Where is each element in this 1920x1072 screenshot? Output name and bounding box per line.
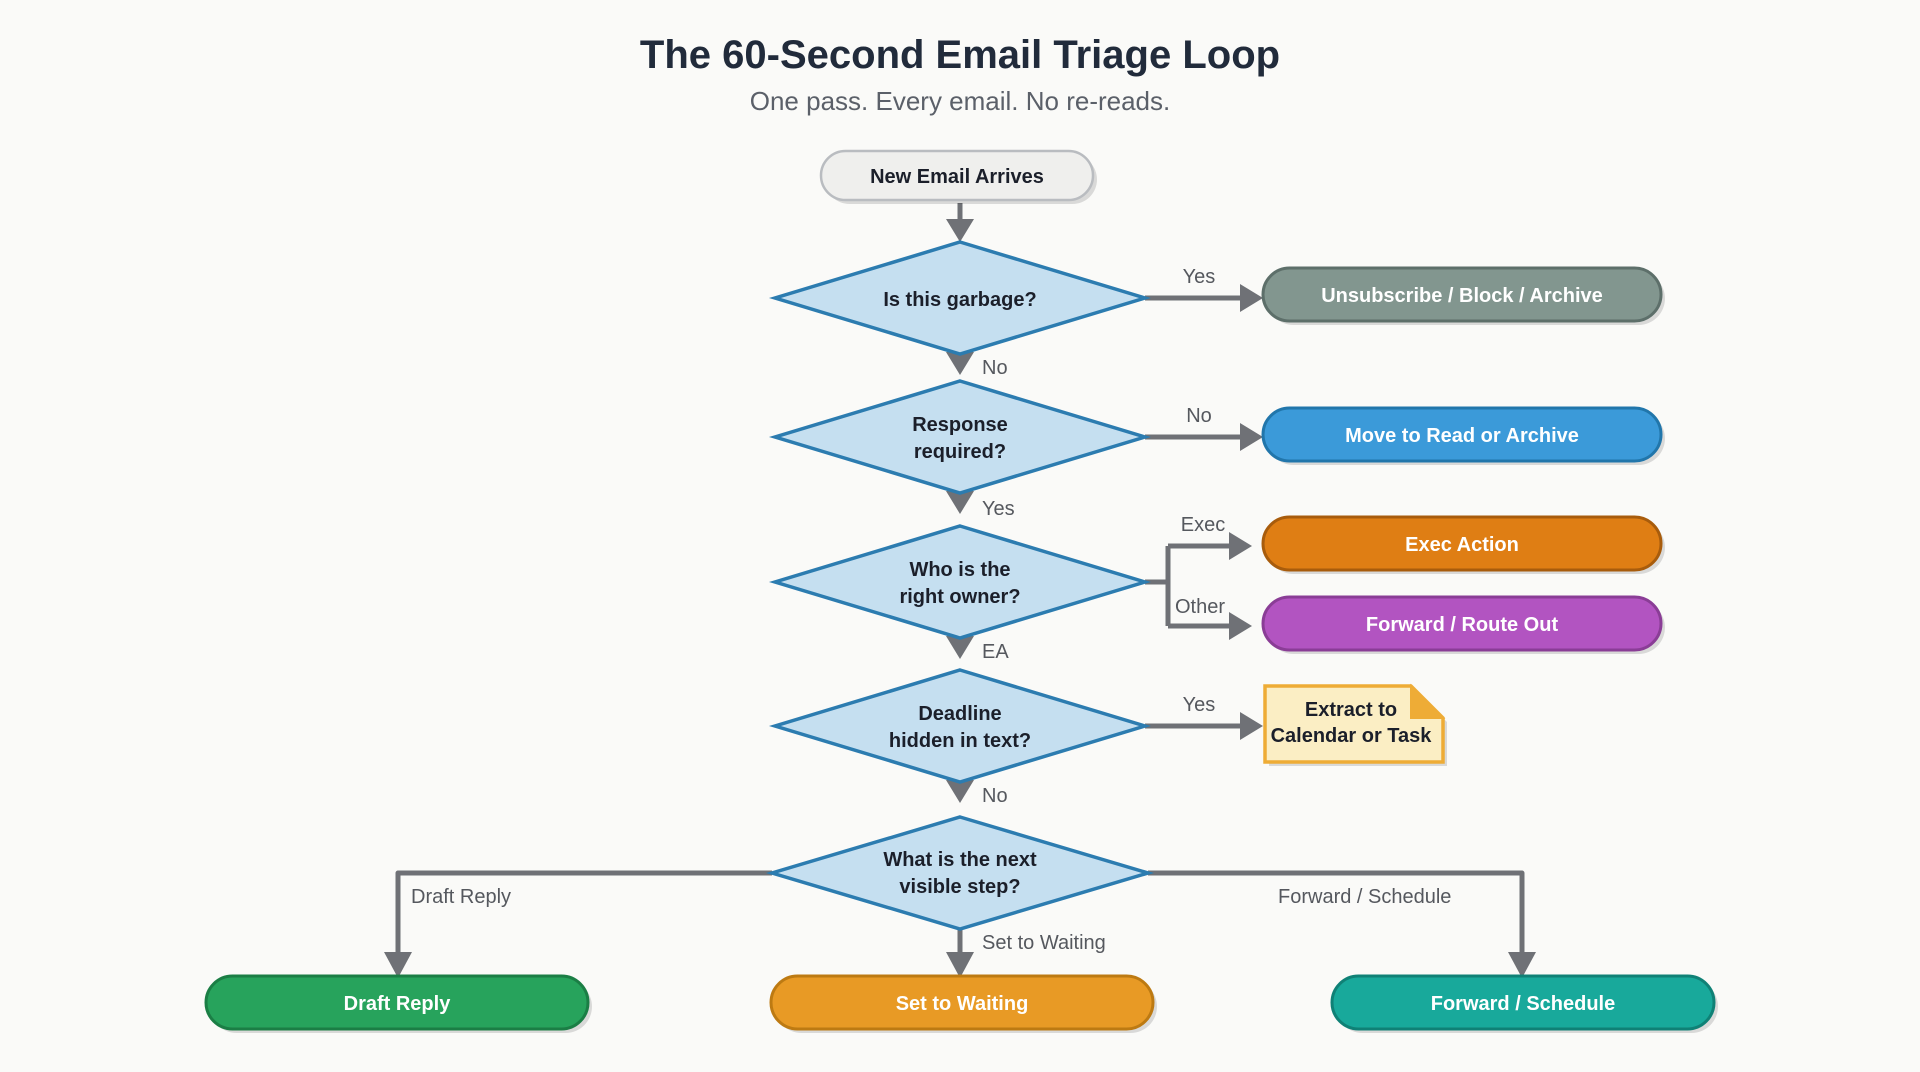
page-title: The 60-Second Email Triage Loop [640,33,1280,77]
edge-label-d5-waiting: Set to Waiting [982,932,1106,954]
node-forward-schedule[interactable]: Forward / Schedule [1332,976,1718,1033]
edge-label-d2-yes: Yes [982,498,1015,520]
node-label-read: Move to Read or Archive [1345,425,1579,447]
node-label-d3-line2: right owner? [899,586,1020,608]
edge-garbage-yes: Yes [1145,266,1263,312]
node-label-forwardout: Forward / Route Out [1366,614,1559,636]
node-extract-to-calendar-or-task[interactable]: Extract to Calendar or Task [1265,686,1447,766]
page-subtitle: One pass. Every email. No re-reads. [750,86,1171,116]
node-label-garbage: Unsubscribe / Block / Archive [1321,285,1603,307]
node-exec-action[interactable]: Exec Action [1263,517,1665,574]
edge-label-d3-ea: EA [982,641,1009,663]
node-label-d4-line1: Deadline [918,703,1001,725]
node-label-waiting: Set to Waiting [896,993,1029,1015]
edge-label-d1-yes: Yes [1183,266,1216,288]
edge-label-d5-schedule: Forward / Schedule [1278,886,1451,908]
node-label-start: New Email Arrives [870,166,1044,188]
node-decision-deadline-hidden[interactable]: Deadline hidden in text? [775,670,1145,782]
edge-deadline-yes: Yes [1145,694,1263,740]
node-decision-next-visible-step[interactable]: What is the next visible step? [772,817,1148,929]
edge-next-draft: Draft Reply [384,873,772,978]
edge-start-to-garbage-decision [946,203,974,242]
node-decision-response-required[interactable]: Response required? [775,381,1145,493]
edge-label-d5-draft: Draft Reply [411,886,511,908]
node-label-d2-line2: required? [914,441,1006,463]
node-label-schedule: Forward / Schedule [1431,993,1615,1015]
edge-response-no: No [1145,405,1263,451]
edge-next-schedule: Forward / Schedule [1148,873,1536,978]
node-new-email-arrives[interactable]: New Email Arrives [821,151,1097,204]
edge-label-d2-no: No [1186,405,1212,427]
node-label-extract-line1: Extract to [1305,699,1397,721]
node-label-exec: Exec Action [1405,534,1519,556]
edge-label-d3-other: Other [1175,596,1225,618]
node-label-d4-line2: hidden in text? [889,730,1031,752]
edge-label-d4-yes: Yes [1183,694,1216,716]
node-label-d2-line1: Response [912,414,1008,436]
edge-label-d1-no: No [982,357,1008,379]
edge-owner-branch: Exec Other [1145,514,1252,640]
node-decision-right-owner[interactable]: Who is the right owner? [775,526,1145,638]
node-draft-reply[interactable]: Draft Reply [206,976,592,1033]
node-decision-is-garbage[interactable]: Is this garbage? [775,242,1145,354]
node-forward-route-out[interactable]: Forward / Route Out [1263,597,1665,654]
edge-label-d3-exec: Exec [1181,514,1225,536]
node-label-d3-line1: Who is the [909,559,1010,581]
node-label-d1: Is this garbage? [883,289,1036,311]
edge-label-d4-no: No [982,785,1008,807]
node-label-extract-line2: Calendar or Task [1271,725,1433,747]
node-move-to-read-or-archive[interactable]: Move to Read or Archive [1263,408,1665,465]
note-folded-corner-icon [1411,686,1443,718]
node-label-d5-line1: What is the next [883,849,1037,871]
flowchart-canvas: The 60-Second Email Triage Loop One pass… [0,0,1920,1072]
node-label-d5-line2: visible step? [899,876,1020,898]
node-label-draft: Draft Reply [344,993,452,1015]
flowchart-svg: The 60-Second Email Triage Loop One pass… [0,0,1920,1072]
node-unsubscribe-block-archive[interactable]: Unsubscribe / Block / Archive [1263,268,1665,325]
node-set-to-waiting[interactable]: Set to Waiting [771,976,1157,1033]
